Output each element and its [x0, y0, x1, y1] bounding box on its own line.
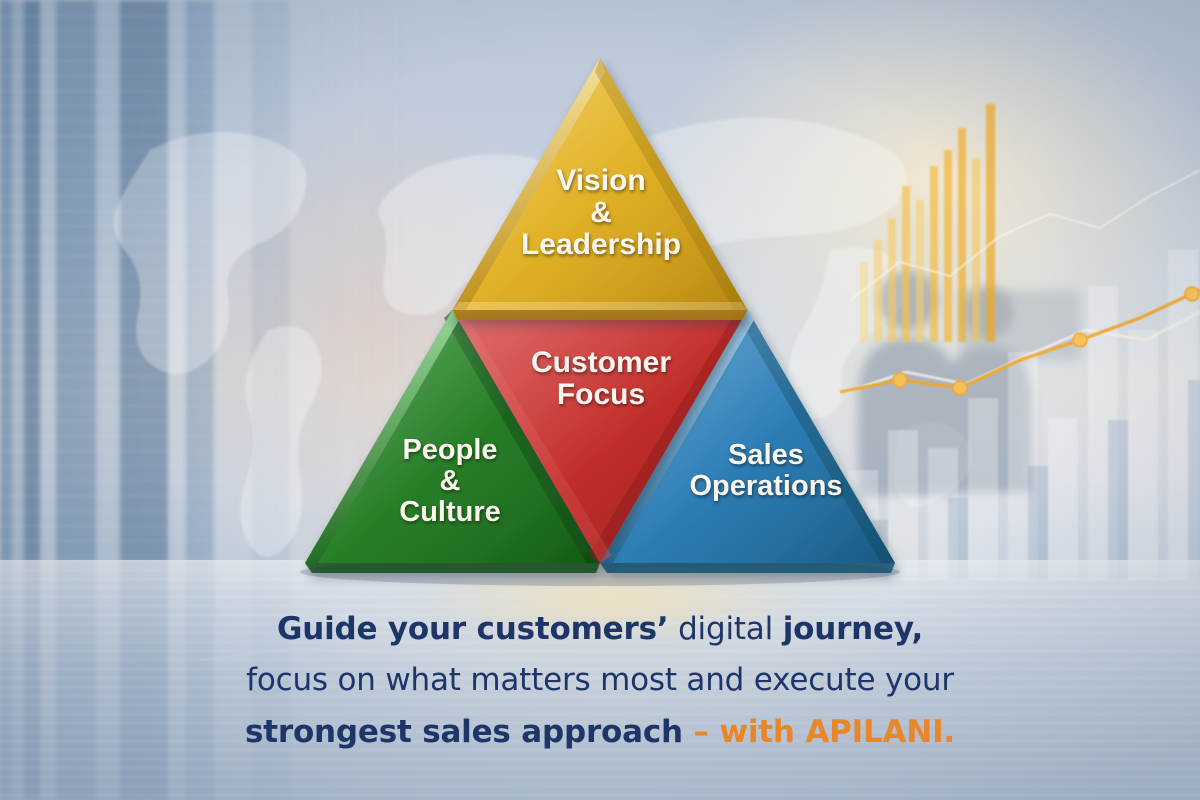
- tagline-dash: –: [694, 714, 720, 750]
- tagline-line-3: strongest sales approach – with APILANI.: [0, 706, 1200, 758]
- pyramid-segment-vision[interactable]: [453, 58, 748, 320]
- tagline-line-1: Guide your customers’ digital journey,: [0, 604, 1200, 654]
- tagline-regular-focus: focus on what matters most and execute y…: [246, 662, 954, 698]
- tagline-bold-guide: Guide your customers’: [277, 611, 668, 647]
- tagline-brand-apilani: with APILANI.: [719, 714, 955, 750]
- tagline: Guide your customers’ digital journey, f…: [0, 604, 1200, 758]
- tagline-bold-journey: journey,: [783, 611, 923, 647]
- tagline-regular-digital: digital: [668, 611, 782, 647]
- infographic-canvas: Vision & Leadership Customer Focus Peopl…: [0, 0, 1200, 800]
- tagline-line-2: focus on what matters most and execute y…: [0, 654, 1200, 706]
- tagline-bold-strongest: strongest sales approach: [245, 714, 694, 750]
